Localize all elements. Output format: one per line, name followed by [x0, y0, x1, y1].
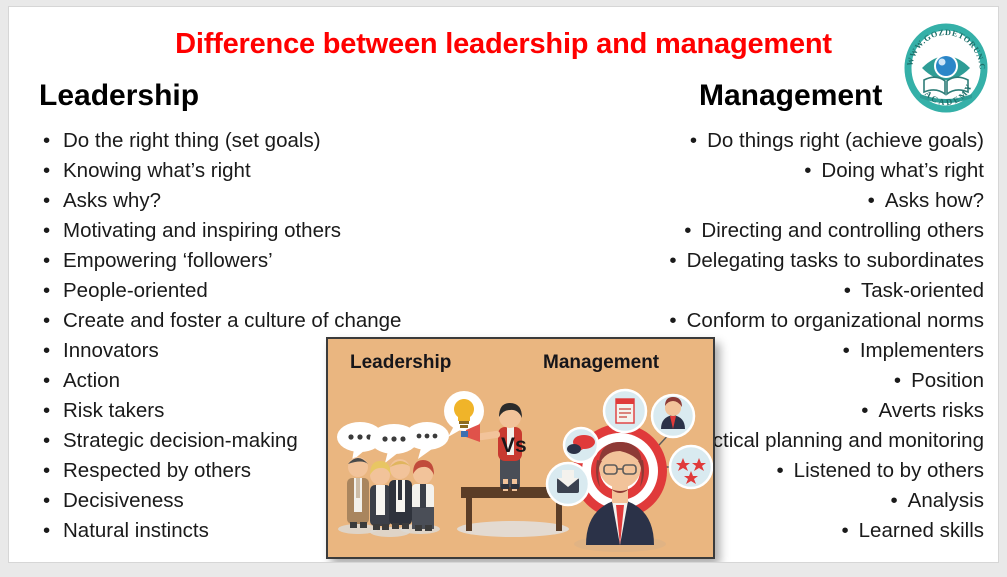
bullet-dot-icon: • [43, 336, 52, 366]
bullet-dot-icon: • [43, 516, 52, 546]
leadership-list-item: •Motivating and inspiring others [43, 216, 513, 246]
bullet-dot-icon: • [889, 486, 898, 516]
bullet-dot-icon: • [43, 216, 52, 246]
bullet-dot-icon: • [43, 366, 52, 396]
illustration-label-vs: Vs [501, 434, 527, 458]
page-title: Difference between leadership and manage… [9, 28, 998, 61]
leadership-list-item: •Empowering ‘followers’ [43, 246, 513, 276]
bullet-dot-icon: • [43, 246, 52, 276]
management-list-item-label: Implementers [860, 339, 984, 362]
management-list-item-label: Tactical planning and monitoring [691, 429, 984, 452]
leadership-list-item-label: Create and foster a culture of change [63, 309, 401, 332]
slide-canvas: Difference between leadership and manage… [8, 6, 999, 563]
management-list-item: •Asks how? [514, 186, 984, 216]
management-list-item-label: Doing what’s right [821, 159, 984, 182]
leadership-list-item-label: Innovators [63, 339, 159, 362]
column-heading-management: Management [699, 79, 882, 113]
crowd-person-icon [347, 457, 369, 528]
logo-icon: WWW.GOZDETORUN.COM ACADEMY [902, 22, 990, 114]
leadership-list-item-label: Do the right thing (set goals) [63, 129, 321, 152]
crowd-person-icon [389, 459, 412, 529]
bullet-dot-icon: • [682, 216, 691, 246]
manager-network-graphic [547, 390, 712, 552]
leadership-list-item-label: Natural instincts [63, 519, 209, 542]
management-list-item: •Doing what’s right [514, 156, 984, 186]
leadership-list-item: •Create and foster a culture of change [43, 306, 513, 336]
leadership-list-item-label: People-oriented [63, 279, 208, 302]
management-list-item: •Task-oriented [514, 276, 984, 306]
bullet-dot-icon: • [892, 366, 901, 396]
leadership-list-item-label: Decisiveness [63, 489, 184, 512]
bullet-dot-icon: • [43, 126, 52, 156]
leadership-list-item-label: Respected by others [63, 459, 251, 482]
management-list-item: •Conform to organizational norms [514, 306, 984, 336]
leadership-list-item-label: Risk takers [63, 399, 164, 422]
chat-bubble-icon [564, 428, 598, 462]
email-icon [547, 463, 589, 505]
leadership-list-item: •Do the right thing (set goals) [43, 126, 513, 156]
person-profile-icon [652, 395, 694, 437]
management-list-item: •Delegating tasks to subordinates [514, 246, 984, 276]
bullet-dot-icon: • [688, 126, 697, 156]
bullet-dot-icon: • [43, 396, 52, 426]
leadership-list-item: •Asks why? [43, 186, 513, 216]
document-icon [604, 390, 646, 432]
bullet-dot-icon: • [43, 276, 52, 306]
slide-frame: Difference between leadership and manage… [0, 0, 1007, 577]
bullet-dot-icon: • [43, 186, 52, 216]
bullet-dot-icon: • [840, 516, 849, 546]
bullet-dot-icon: • [859, 396, 868, 426]
bullet-dot-icon: • [668, 246, 677, 276]
leadership-list-item-label: Asks why? [63, 189, 161, 212]
leadership-list-item-label: Knowing what’s right [63, 159, 251, 182]
management-list-item-label: Task-oriented [861, 279, 984, 302]
crowd-person-icon [370, 461, 391, 530]
leadership-list-item-label: Action [63, 369, 120, 392]
leadership-list-item-label: Empowering ‘followers’ [63, 249, 273, 272]
leadership-list-item-label: Strategic decision-making [63, 429, 298, 452]
management-list-item-label: Delegating tasks to subordinates [687, 249, 984, 272]
management-list-item-label: Conform to organizational norms [687, 309, 984, 332]
leadership-list-item: •Knowing what’s right [43, 156, 513, 186]
bullet-dot-icon: • [775, 456, 784, 486]
management-list-item-label: Listened to by others [794, 459, 984, 482]
academy-logo: WWW.GOZDETORUN.COM ACADEMY [902, 22, 990, 114]
leadership-list-item: •People-oriented [43, 276, 513, 306]
leadership-vs-management-illustration: Leadership Management Vs [326, 337, 715, 559]
management-list-item-label: Asks how? [885, 189, 984, 212]
bullet-dot-icon: • [43, 486, 52, 516]
illustration-label-management: Management [543, 352, 659, 374]
bullet-dot-icon: • [866, 186, 875, 216]
management-list-item-label: Directing and controlling others [701, 219, 984, 242]
bullet-dot-icon: • [43, 426, 52, 456]
management-list-item: •Do things right (achieve goals) [514, 126, 984, 156]
bullet-dot-icon: • [43, 456, 52, 486]
management-list-item-label: Analysis [908, 489, 984, 512]
management-list-item: •Directing and controlling others [514, 216, 984, 246]
star-rating-icon [670, 446, 712, 488]
management-list-item-label: Averts risks [878, 399, 984, 422]
bullet-dot-icon: • [842, 276, 851, 306]
management-list-item-label: Do things right (achieve goals) [707, 129, 984, 152]
leadership-list-item-label: Motivating and inspiring others [63, 219, 341, 242]
illustration-label-leadership: Leadership [350, 352, 451, 374]
bullet-dot-icon: • [668, 306, 677, 336]
column-heading-leadership: Leadership [39, 79, 199, 113]
crowd-person-icon [412, 460, 434, 531]
bullet-dot-icon: • [43, 306, 52, 336]
management-list-item-label: Position [911, 369, 984, 392]
bullet-dot-icon: • [43, 156, 52, 186]
bullet-dot-icon: • [802, 156, 811, 186]
speech-bubbles-icon [337, 422, 449, 463]
bullet-dot-icon: • [841, 336, 850, 366]
management-list-item-label: Learned skills [859, 519, 984, 542]
